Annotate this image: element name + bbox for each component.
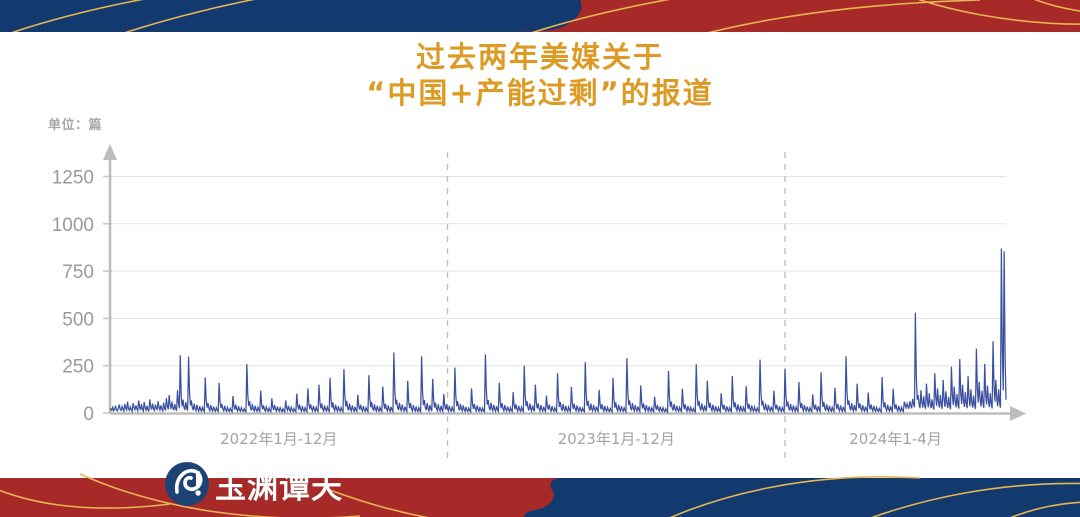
- title-line-1: 过去两年美媒关于: [0, 40, 1080, 76]
- chart-title: 过去两年美媒关于 “中国+产能过剩”的报道: [0, 40, 1080, 112]
- y-axis-tick-labels: 025050075010001250: [52, 167, 94, 425]
- x-axis-tick-labels: 2022年1月-12月2023年1月-12月2024年1-4月: [220, 430, 942, 448]
- y-tick-label: 750: [62, 262, 94, 283]
- banner-navy-fill: [0, 0, 581, 32]
- x-tick-label: 2022年1月-12月: [220, 430, 337, 448]
- brand-logo: 玉渊谭天: [163, 458, 353, 510]
- y-axis-unit-label: 单位：篇: [48, 114, 102, 133]
- reports-series-line: [110, 248, 1006, 411]
- y-tick-label: 1000: [52, 215, 94, 236]
- chart-gridlines: [110, 176, 1006, 365]
- bottom-decorative-banner: [0, 470, 1080, 517]
- banner-bottom-navy-fill: [524, 478, 1080, 517]
- y-tick-label: 1250: [52, 167, 94, 188]
- y-tick-label: 250: [62, 357, 94, 378]
- y-tick-label: 0: [83, 404, 94, 425]
- title-line-2: “中国+产能过剩”的报道: [0, 76, 1080, 112]
- x-tick-label: 2024年1-4月: [849, 430, 942, 448]
- y-tick-label: 500: [62, 309, 94, 330]
- top-decorative-banner: [0, 0, 1080, 32]
- logo-wordmark: 玉渊谭天: [215, 462, 343, 507]
- x-axis-arrow-icon: [1010, 406, 1026, 421]
- infographic-page: 过去两年美媒关于 “中国+产能过剩”的报道 单位：篇 0250500750100…: [0, 0, 1080, 517]
- line-chart: 025050075010001250 2022年1月-12月2023年1月-12…: [0, 140, 1080, 460]
- x-tick-label: 2023年1月-12月: [558, 430, 675, 448]
- y-axis-arrow-icon: [103, 144, 117, 160]
